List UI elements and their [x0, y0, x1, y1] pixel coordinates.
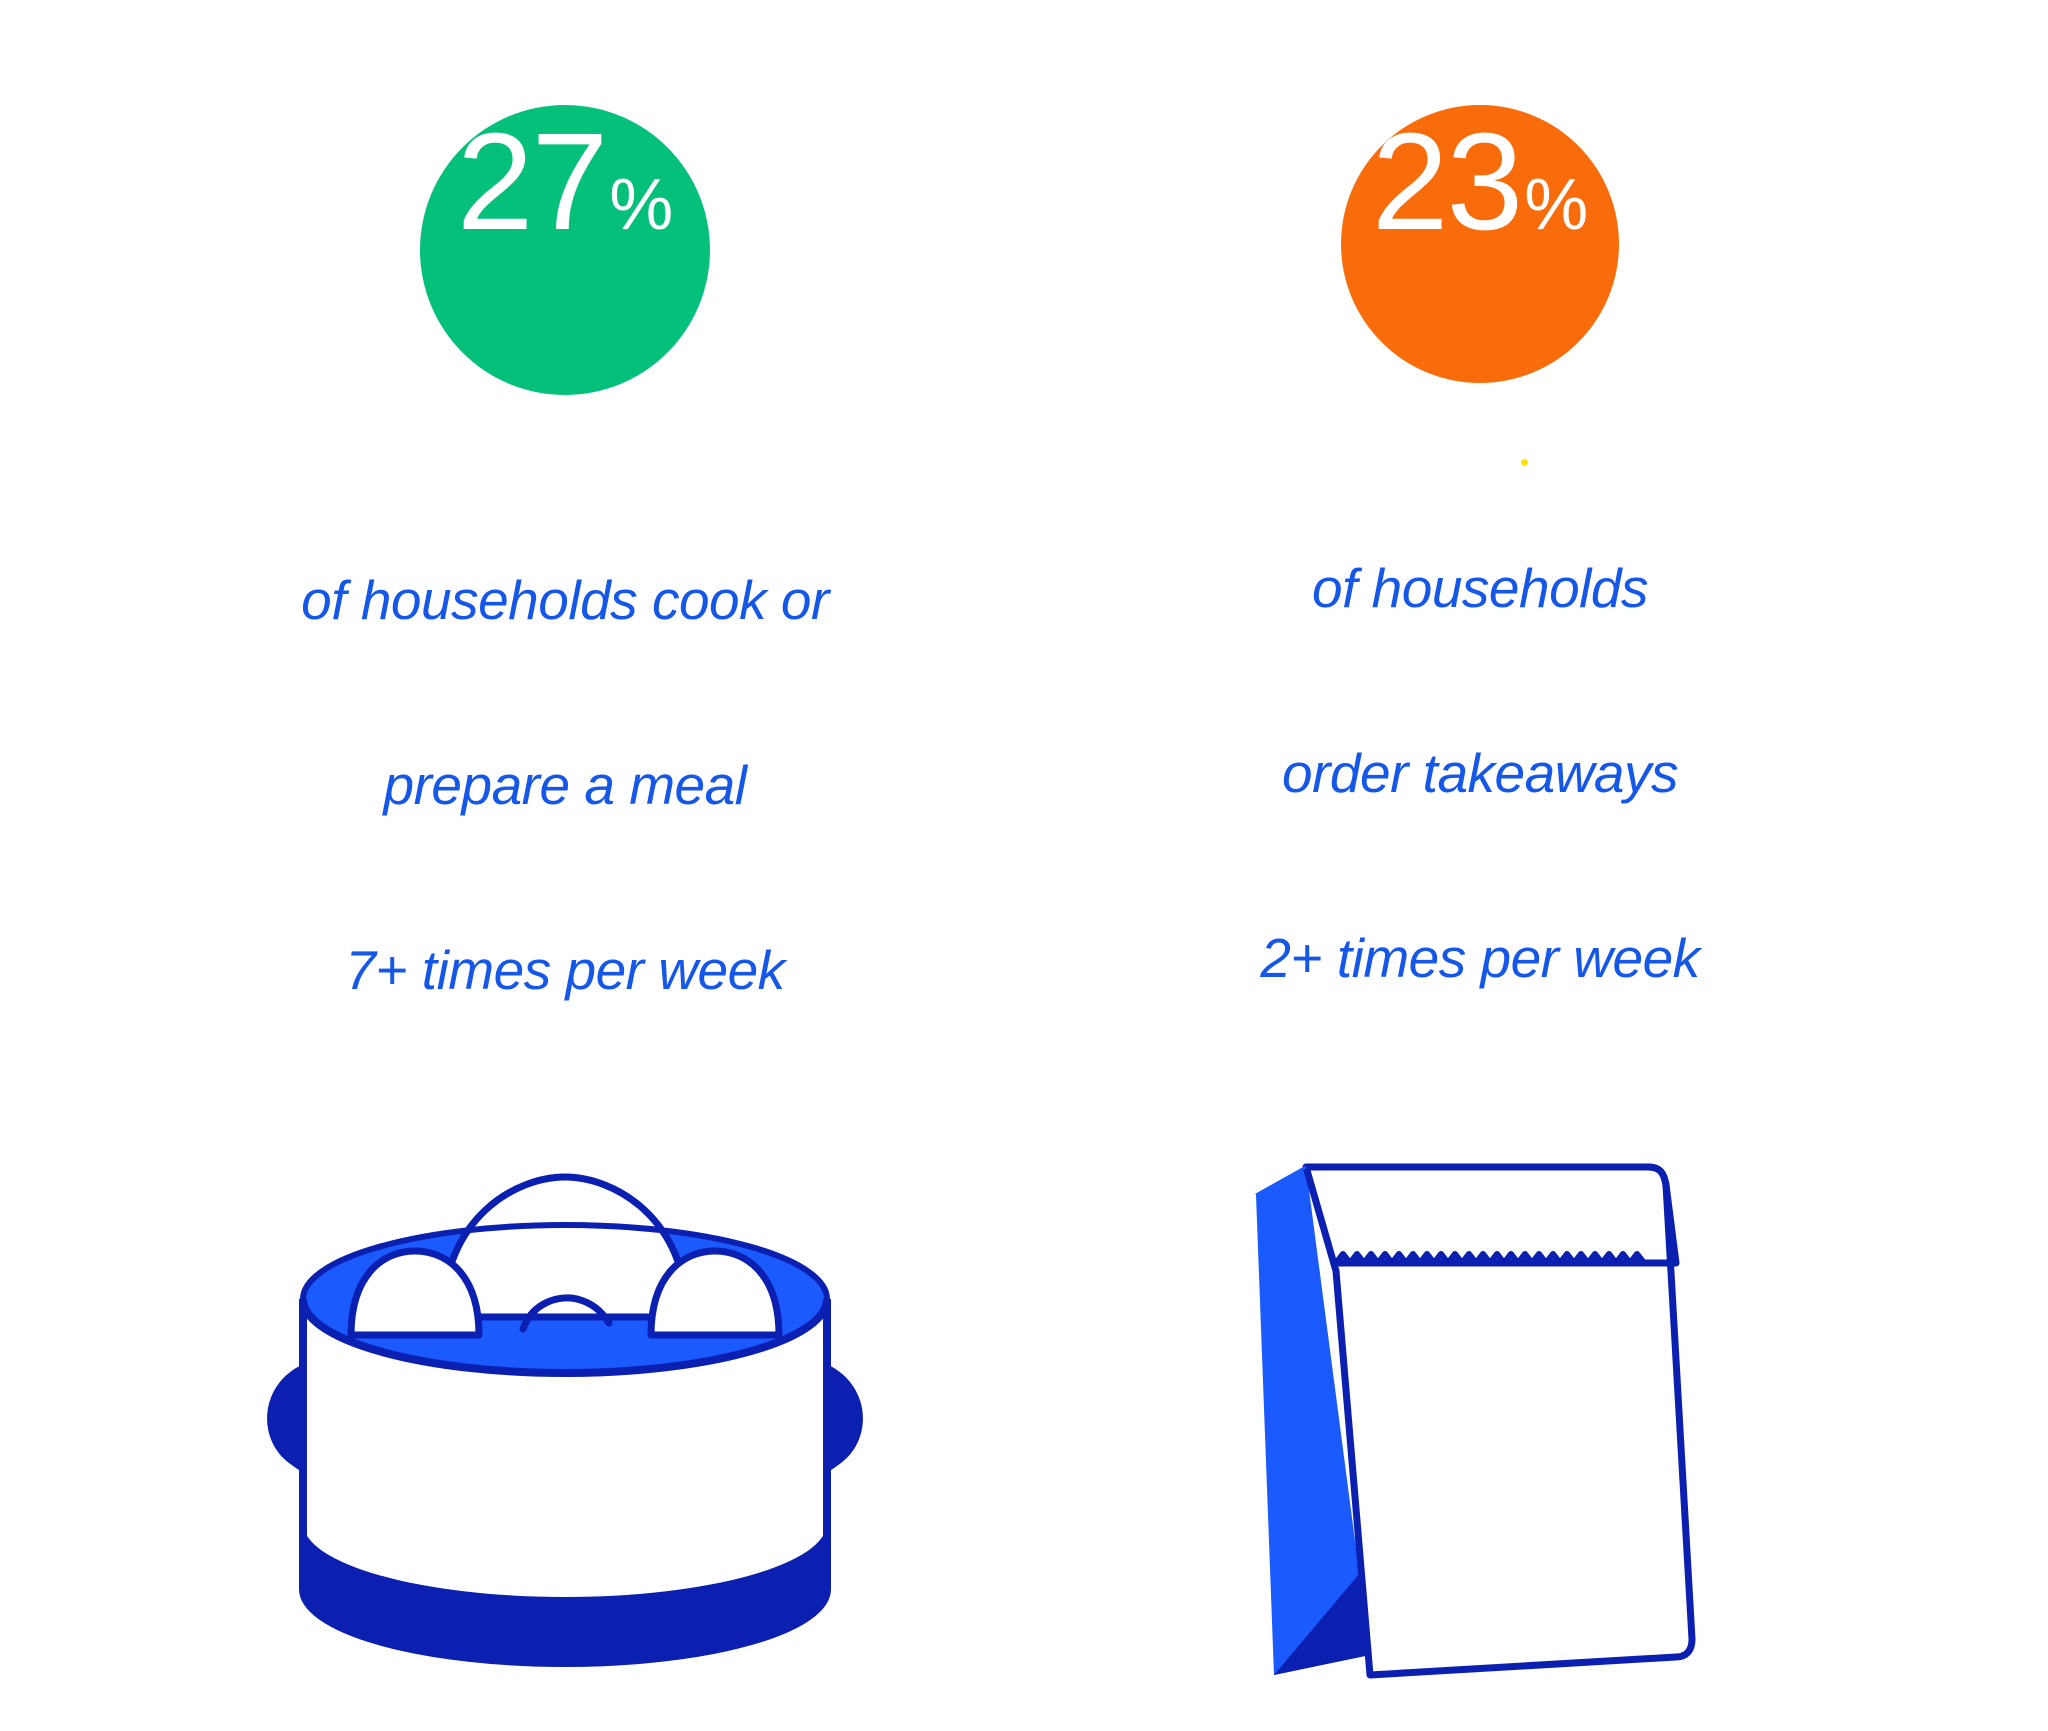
percent-bubble-orange: 23 %: [1341, 105, 1619, 383]
caption-line-1: of households: [1260, 558, 1699, 620]
stat-caption-cook: of households cook or prepare a meal 7+ …: [301, 447, 829, 1125]
percent-value-group: 27 %: [457, 113, 674, 251]
caption-line-2: prepare a meal: [301, 755, 829, 817]
caption-line-1: of households cook or: [301, 570, 829, 632]
caption-line-3: 7+ times per week: [301, 940, 829, 1002]
percent-sign: %: [609, 169, 673, 241]
stat-caption-takeaway: of households order takeaways 2+ times p…: [1260, 435, 1699, 1113]
caption-line-2: order takeaways: [1260, 743, 1699, 805]
stat-card-cook-at-home: 27 % of households cook or prepare a mea…: [170, 105, 960, 1731]
stats-row: 27 % of households cook or prepare a mea…: [0, 0, 2048, 1366]
takeaway-bag-icon: [1240, 1159, 1720, 1719]
takeaway-bag-illustration: [1240, 1159, 1720, 1719]
percent-sign: %: [1524, 169, 1588, 241]
caption-line-3: 2+ times per week: [1260, 928, 1699, 990]
stat-card-order-takeaways: 23 % of households order takeaways 2+ ti…: [1130, 105, 1830, 1719]
percent-bubble-green: 27 %: [420, 105, 710, 395]
percent-number: 27: [457, 113, 607, 251]
artifact-speck: [1521, 459, 1528, 466]
bag-front-face: [1306, 1167, 1692, 1675]
cooking-pot-icon: [215, 1171, 915, 1731]
infographic-canvas: 27 % of households cook or prepare a mea…: [0, 0, 2048, 1366]
percent-number: 23: [1372, 113, 1522, 251]
percent-value-group: 23 %: [1372, 113, 1589, 251]
cooking-pot-illustration: [215, 1171, 915, 1731]
